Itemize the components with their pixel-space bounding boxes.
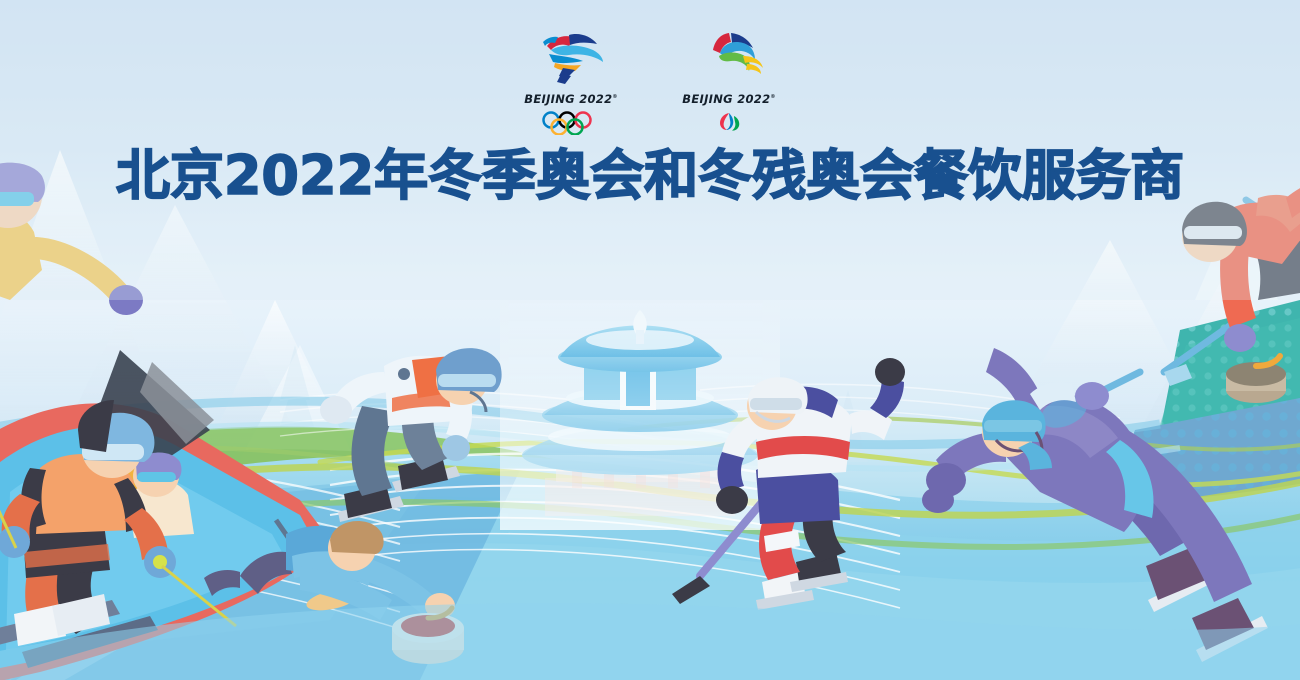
beijing-2022-catering-banner: BEIJING 2022® bbox=[0, 0, 1300, 680]
olympic-emblem-block: BEIJING 2022® bbox=[516, 30, 626, 135]
emblem-row: BEIJING 2022® bbox=[0, 30, 1300, 135]
olympic-rings-icon bbox=[540, 111, 602, 135]
beijing-2022-olympic-emblem-icon bbox=[525, 30, 617, 86]
olympic-wordmark: BEIJING 2022® bbox=[524, 92, 617, 106]
paralympic-wordmark: BEIJING 2022® bbox=[682, 92, 775, 106]
paralympic-agitos-icon bbox=[706, 111, 752, 133]
beijing-2022-paralympic-emblem-icon bbox=[683, 30, 775, 86]
banner-title: 北京2022年冬季奥会和冬残奥会餐饮服务商 bbox=[0, 143, 1300, 209]
paralympic-emblem-block: BEIJING 2022® bbox=[674, 30, 784, 133]
